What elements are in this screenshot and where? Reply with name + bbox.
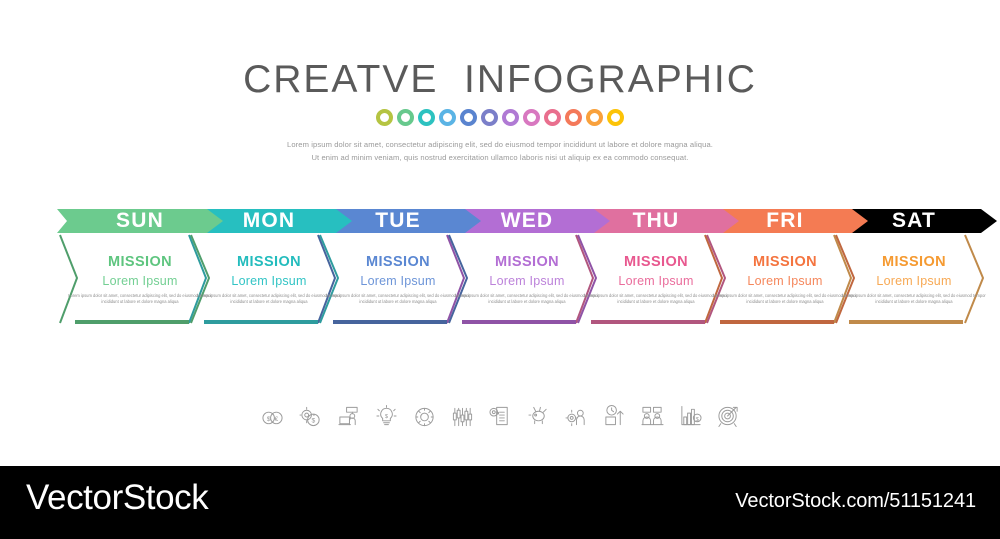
bar-chart-dollar-icon: $ [679,403,702,429]
day-panels-row: SUNMISSIONLorem IpsumLorem ipsum dolor s… [0,205,1000,330]
clock-growth-icon [603,403,626,429]
dot-olive [376,109,393,126]
gear-network-icon [413,403,436,429]
lightbulb-idea-icon: $ [375,403,398,429]
subtitle-line-2: Ut enim ad minim veniam, quis nostrud ex… [0,152,1000,165]
dot-violet [502,109,519,126]
dot-blue [460,109,477,126]
dot-salmon [565,109,582,126]
dot-sky [439,109,456,126]
vectorstock-url: VectorStock.com/51151241 [735,490,976,513]
dot-amber [607,109,624,126]
svg-text:$: $ [311,418,315,425]
icon-strip: $€$$$ [0,396,1000,436]
subtitle-block: Lorem ipsum dolor sit amet, consectetur … [0,139,1000,164]
dot-green [397,109,414,126]
color-dots-row [0,109,1000,126]
subtitle-line-1: Lorem ipsum dolor sit amet, consectetur … [0,139,1000,152]
svg-text:$: $ [384,414,388,420]
panel-lorem-label: Lorem Ipsum [57,274,223,288]
team-presentation-icon [641,403,664,429]
watermark-footer: VectorStock VectorStock.com/51151241 [0,466,1000,539]
panel-day-label: SUN [57,208,223,234]
gears-dollar-icon: $ [299,403,322,429]
infographic-canvas: CREATVE INFOGRAPHIC Lorem ipsum dolor si… [0,0,1000,539]
target-arrow-icon [717,403,740,429]
day-panel-sun[interactable]: SUNMISSIONLorem IpsumLorem ipsum dolor s… [57,205,237,330]
coins-currency-icon: $€ [261,403,284,429]
candlestick-chart-icon [451,403,474,429]
svg-text:€: € [274,416,278,423]
panel-body-text: Lorem ipsum dolor sit amet, consectetur … [65,293,215,305]
page-title: CREATVE INFOGRAPHIC [0,58,1000,102]
svg-text:$: $ [695,417,699,423]
presenter-computer-icon [337,403,360,429]
vectorstock-logo: VectorStock [26,478,208,518]
person-gear-icon [565,403,588,429]
svg-text:$: $ [266,416,270,423]
dot-orchid [523,109,540,126]
dot-indigo [481,109,498,126]
dot-orange [586,109,603,126]
dot-teal [418,109,435,126]
panel-mission-label: MISSION [57,254,223,270]
piggy-bank-icon [527,403,550,429]
dot-pink [544,109,561,126]
document-gear-icon [489,403,512,429]
